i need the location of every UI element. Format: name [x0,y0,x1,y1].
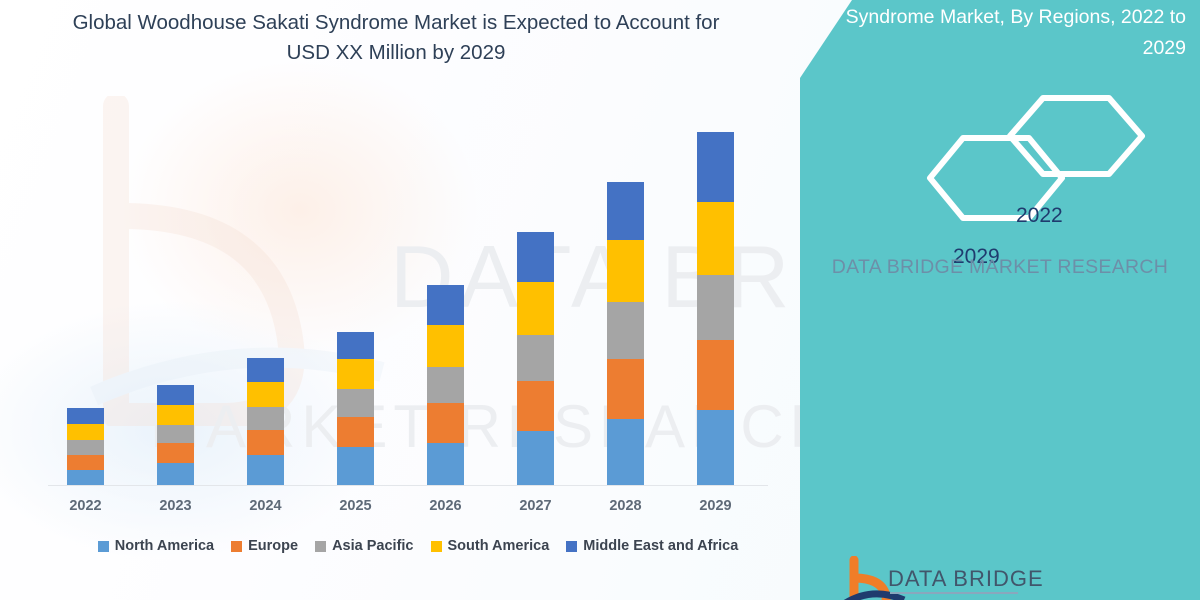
bar-segment [67,455,104,470]
x-tick-2028: 2028 [586,498,666,514]
bar-segment [607,359,644,419]
bar-segment [247,358,284,382]
bar-segment [337,389,374,417]
bar-segment [427,443,464,485]
bar-segment [517,381,554,431]
x-tick-2026: 2026 [406,498,486,514]
bar-segment [697,340,734,410]
bar-segment [607,240,644,302]
bar-segment [67,408,104,424]
legend-item-south-america[interactable]: South America [431,538,550,554]
legend-label: Europe [248,538,298,554]
bar-2023 [157,385,194,485]
bar-segment [157,443,194,463]
bar-segment [247,430,284,455]
bar-segment [67,424,104,440]
legend-label: Asia Pacific [332,538,413,554]
legend-item-europe[interactable]: Europe [231,538,298,554]
legend-item-asia-pacific[interactable]: Asia Pacific [315,538,413,554]
bar-2027 [517,232,554,485]
x-tick-2027: 2027 [496,498,576,514]
bar-segment [517,431,554,485]
x-tick-2022: 2022 [46,498,126,514]
bar-segment [247,455,284,485]
bar-segment [157,463,194,485]
brand-name: DATA BRIDGE MARKET RESEARCH [800,252,1200,282]
bar-2026 [427,285,464,485]
bar-2028 [607,182,644,485]
x-axis-tick-labels: 20222023202420252026202720282029 [0,498,860,522]
sidebar-title: Syndrome Market, By Regions, 2022 to 202… [800,2,1200,64]
bar-segment [67,440,104,455]
bar-segment [67,470,104,485]
bar-segment [247,407,284,430]
logo-wordmark: DATA BRIDGE [888,566,1044,592]
x-tick-2025: 2025 [316,498,396,514]
logo-underline [890,592,1018,594]
x-tick-2024: 2024 [226,498,306,514]
legend-swatch-icon [566,541,577,552]
legend-swatch-icon [231,541,242,552]
bar-segment [427,403,464,443]
legend-item-middle-east-and-africa[interactable]: Middle East and Africa [566,538,738,554]
hexagon-badges: 2022 2029 [800,78,1200,228]
bar-segment [607,302,644,359]
legend-swatch-icon [431,541,442,552]
bar-segment [247,382,284,407]
legend-label: South America [448,538,550,554]
bar-2029 [697,132,734,485]
bar-segment [337,332,374,359]
bar-segment [697,132,734,202]
teal-sidebar: Syndrome Market, By Regions, 2022 to 202… [800,0,1200,600]
bar-segment [337,447,374,485]
bar-segment [697,410,734,485]
legend-swatch-icon [315,541,326,552]
bar-segment [517,232,554,282]
bar-segment [427,285,464,325]
bar-segment [607,182,644,240]
hexagon-label-2022: 2022 [1016,204,1063,228]
bar-segment [427,367,464,403]
legend-swatch-icon [98,541,109,552]
bar-segment [427,325,464,367]
x-tick-2023: 2023 [136,498,216,514]
x-axis-baseline [48,485,768,486]
legend-label: Middle East and Africa [583,538,738,554]
bar-segment [697,275,734,340]
bar-segment [607,419,644,485]
bar-2025 [337,332,374,485]
legend-label: North America [115,538,214,554]
bar-segment [337,359,374,389]
legend-item-north-america[interactable]: North America [98,538,214,554]
bar-segment [337,417,374,447]
bar-segment [157,385,194,405]
chart-legend: North AmericaEuropeAsia PacificSouth Ame… [48,538,788,554]
bar-2022 [67,408,104,485]
bar-2024 [247,358,284,485]
bar-segment [697,202,734,275]
bar-segment [157,425,194,443]
bar-segment [517,282,554,335]
x-tick-2029: 2029 [676,498,756,514]
chart-panel: DATA BRIDGE MARKET RESEARCH Global Woodh… [0,0,860,600]
bar-segment [517,335,554,381]
bar-segment [157,405,194,425]
infographic-canvas: DATA BRIDGE MARKET RESEARCH Global Woodh… [0,0,1200,600]
